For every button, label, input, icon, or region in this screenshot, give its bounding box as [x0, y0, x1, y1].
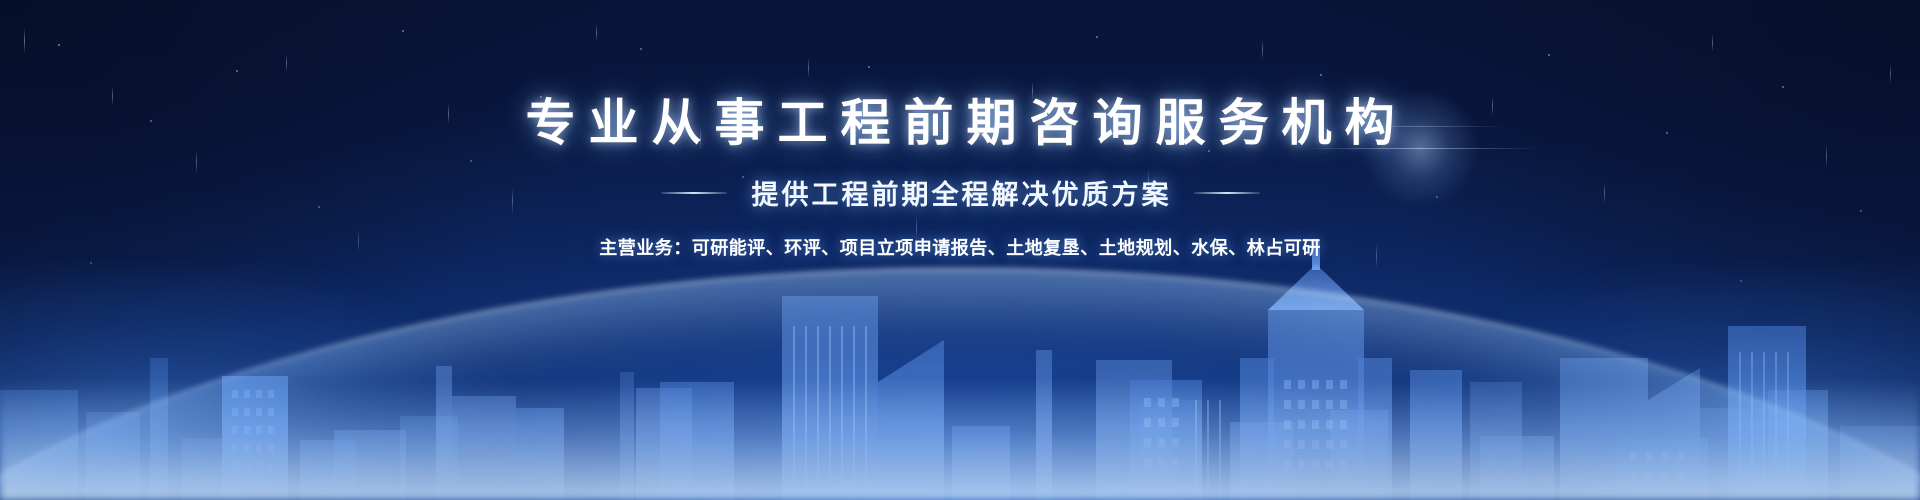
horizon-glow-right: [1400, 270, 1920, 500]
city-skyline: [0, 240, 1920, 500]
star-dot: [236, 70, 238, 72]
divider-line-left: [661, 192, 727, 194]
bottom-haze: [0, 380, 1920, 500]
star-dot: [90, 262, 92, 264]
star-dot: [58, 44, 60, 46]
star-dot: [402, 30, 404, 32]
star-streak: [1712, 34, 1713, 52]
banner-headline: 专业从事工程前期咨询服务机构: [0, 96, 1920, 151]
divider-line-right: [1194, 192, 1260, 194]
star-dot: [868, 66, 870, 68]
hero-banner: 专业从事工程前期咨询服务机构 提供工程前期全程解决优质方案 主营业务：可研能评、…: [0, 0, 1920, 500]
star-streak: [286, 54, 287, 72]
star-dot: [1096, 36, 1098, 38]
star-streak: [596, 24, 597, 42]
star-streak: [24, 28, 25, 54]
star-streak: [808, 58, 809, 78]
star-streak: [1890, 64, 1891, 84]
horizon-rim: [0, 268, 1920, 500]
banner-subtitle-row: 提供工程前期全程解决优质方案: [0, 173, 1920, 212]
horizon-glow-left: [0, 270, 520, 500]
star-streak: [1262, 40, 1263, 60]
star-dot: [1740, 280, 1742, 282]
star-dot: [1782, 86, 1784, 88]
star-dot: [1548, 54, 1550, 56]
star-dot: [1320, 74, 1322, 76]
star-dot: [640, 48, 642, 50]
banner-copy: 专业从事工程前期咨询服务机构 提供工程前期全程解决优质方案 主营业务：可研能评、…: [0, 96, 1920, 260]
banner-subtitle: 提供工程前期全程解决优质方案: [749, 173, 1172, 212]
horizon-glow: [0, 240, 1920, 500]
banner-services-line: 主营业务：可研能评、环评、项目立项申请报告、土地复垦、土地规划、水保、林占可研: [0, 234, 1920, 260]
